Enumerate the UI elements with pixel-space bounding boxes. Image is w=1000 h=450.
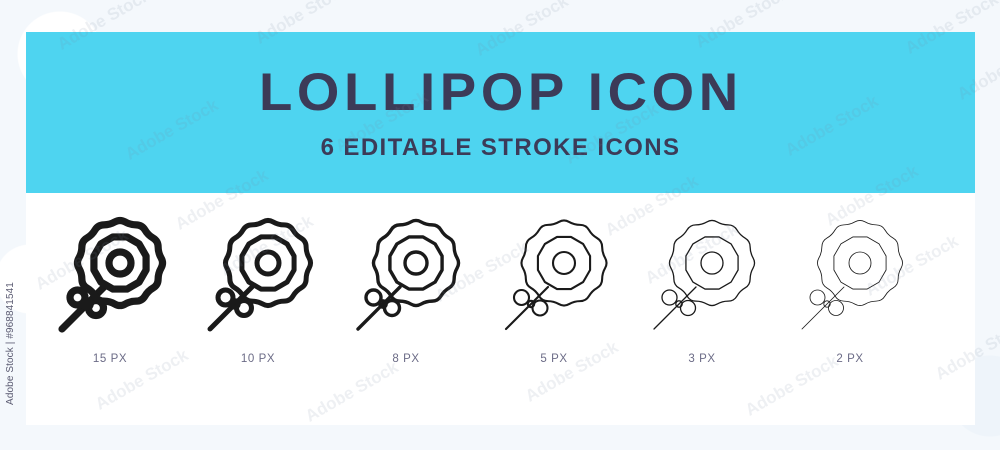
lollipop-glyph: [644, 215, 760, 339]
lollipop-bow-loop-left: [810, 290, 825, 305]
lollipop-candy-rim: [225, 220, 310, 305]
lollipop-candy-ring: [94, 237, 146, 289]
lollipop-candy-center: [849, 252, 871, 274]
lollipop-glyph: [348, 215, 464, 339]
lollipop-candy-rim: [373, 220, 458, 305]
lollipop-bow-loop-right: [681, 301, 696, 316]
stock-credit-watermark: Adobe Stock | #968841541: [2, 248, 18, 438]
lollipop-bow-loop-left: [662, 290, 677, 305]
icon-size-label: 2 PX: [836, 353, 863, 365]
lollipop-candy-center: [701, 252, 723, 274]
lollipop-candy-ring: [834, 237, 886, 289]
lollipop-candy-rim: [817, 220, 902, 305]
icon-showcase-row: 15 PX10 PX8 PX5 PX3 PX2 PX: [26, 193, 975, 425]
lollipop-candy-rim: [521, 220, 606, 305]
lollipop-bow-knot: [84, 301, 90, 307]
icon-variant-15px[interactable]: 15 PX: [36, 215, 184, 405]
icon-variant-2px[interactable]: 2 PX: [776, 215, 924, 405]
lollipop-candy-ring: [242, 237, 294, 289]
page-title: LOLLIPOP ICON: [259, 66, 743, 119]
icon-variant-5px[interactable]: 5 PX: [480, 215, 628, 405]
icon-variant-10px[interactable]: 10 PX: [184, 215, 332, 405]
lollipop-candy-rim: [77, 220, 162, 305]
icon-size-label: 3 PX: [688, 353, 715, 365]
page-subtitle: 6 EDITABLE STROKE ICONS: [321, 136, 681, 160]
lollipop-bow-loop-right: [829, 301, 844, 316]
stock-credit-text: Adobe Stock | #968841541: [5, 282, 16, 405]
lollipop-candy-ring: [686, 237, 738, 289]
icon-size-label: 5 PX: [540, 353, 567, 365]
preview-card: LOLLIPOP ICON 6 EDITABLE STROKE ICONS 15…: [26, 32, 975, 425]
header-banner: LOLLIPOP ICON 6 EDITABLE STROKE ICONS: [26, 32, 975, 193]
icon-variant-3px[interactable]: 3 PX: [628, 215, 776, 405]
icon-size-label: 10 PX: [241, 353, 275, 365]
lollipop-glyph: [496, 215, 612, 339]
lollipop-candy-center: [257, 252, 279, 274]
lollipop-candy-ring: [538, 237, 590, 289]
lollipop-stick: [802, 287, 844, 329]
lollipop-candy-rim: [669, 220, 754, 305]
icon-variant-8px[interactable]: 8 PX: [332, 215, 480, 405]
lollipop-glyph: [792, 215, 908, 339]
lollipop-glyph: [52, 215, 168, 339]
lollipop-bow-loop-left: [514, 290, 529, 305]
lollipop-candy-center: [109, 252, 131, 274]
lollipop-candy-center: [405, 252, 427, 274]
lollipop-candy-ring: [390, 237, 442, 289]
icon-size-label: 8 PX: [392, 353, 419, 365]
lollipop-glyph: [200, 215, 316, 339]
lollipop-candy-center: [553, 252, 575, 274]
icon-size-label: 15 PX: [93, 353, 127, 365]
